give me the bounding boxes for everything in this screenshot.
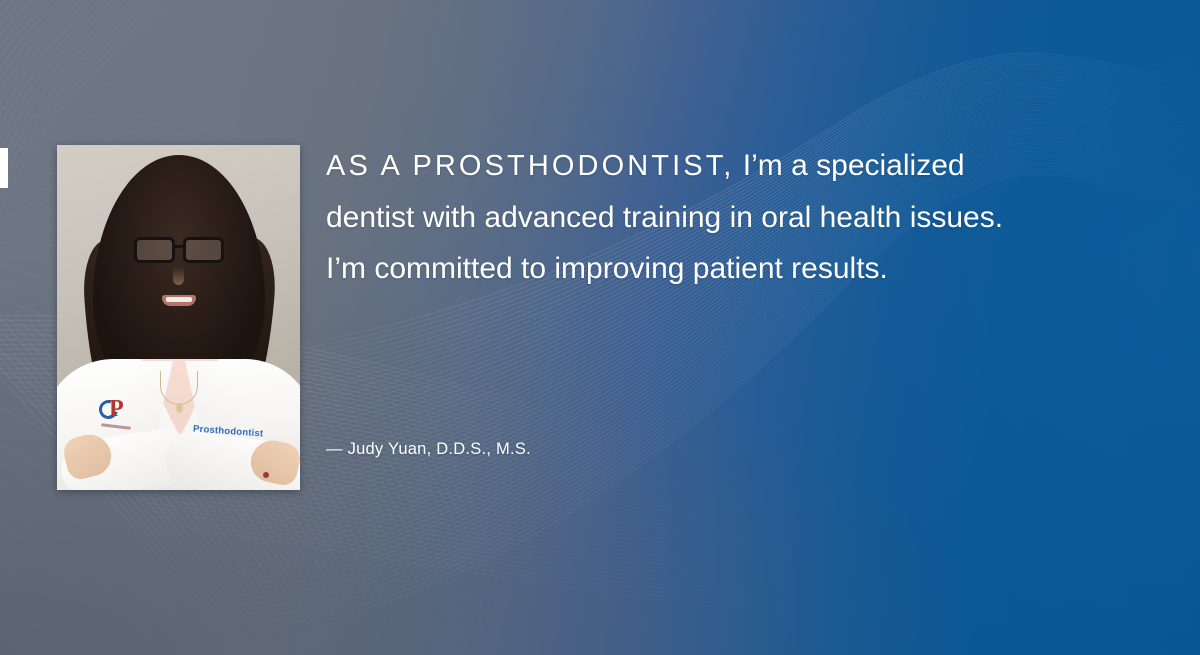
eyeglasses-right-lens	[183, 237, 224, 263]
quote-lead-in: AS A PROSTHODONTIST,	[326, 150, 734, 182]
photo-teeth	[166, 297, 192, 302]
quote-block: AS A PROSTHODONTIST, I’m a specialized d…	[326, 140, 1086, 294]
quote-line-1-rest: I’m a specialized	[734, 149, 964, 182]
quote-line-1: AS A PROSTHODONTIST, I’m a specialized	[326, 140, 1086, 192]
photo-pendant	[176, 403, 183, 413]
eyeglasses-bridge	[174, 245, 184, 248]
left-edge-accent-tab	[0, 148, 8, 188]
quote-line-3: I’m committed to improving patient resul…	[326, 243, 1086, 294]
eyeglasses-left-lens	[134, 237, 175, 263]
photo-nose	[173, 267, 184, 285]
testimonial-banner: P Prosthodontist AS A PROSTHODONTIST, I’…	[0, 0, 1200, 655]
photo-ring	[263, 472, 269, 478]
quote-attribution: — Judy Yuan, D.D.S., M.S.	[326, 440, 531, 459]
quote-line-2: dentist with advanced training in oral h…	[326, 192, 1086, 243]
coat-logo-letter: P	[109, 397, 124, 421]
portrait-photo: P Prosthodontist	[57, 145, 300, 490]
